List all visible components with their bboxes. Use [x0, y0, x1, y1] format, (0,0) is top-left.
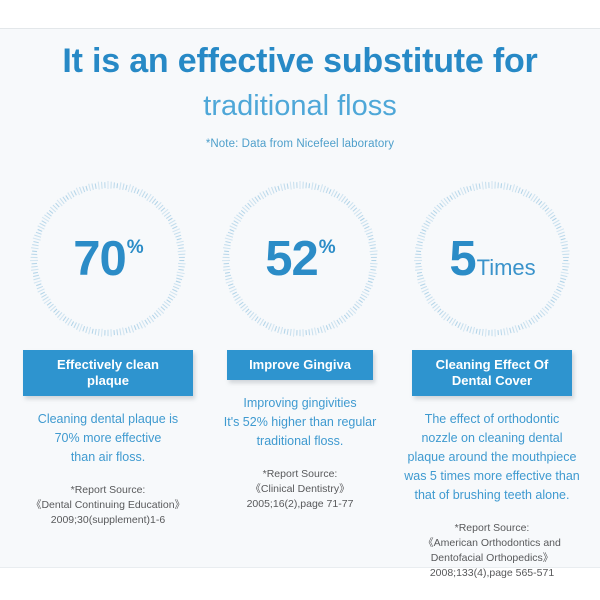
- stat-label-line-1a: Effectively clean: [57, 357, 159, 372]
- stat-number-1: 70: [73, 235, 126, 284]
- citation-line: *Report Source:: [397, 521, 587, 536]
- stat-body-line: than air floss.: [15, 448, 201, 467]
- stat-body-line: Improving gingivities: [207, 394, 393, 413]
- header-block: It is an effective substitute for tradit…: [0, 40, 600, 150]
- stat-suffix-3: Times: [477, 255, 536, 281]
- stat-suffix-2: %: [319, 237, 336, 259]
- stat-label-box-3: Cleaning Effect Of Dental Cover: [412, 350, 572, 396]
- stat-number-2: 52: [265, 235, 318, 284]
- stat-body-line: traditional floss.: [207, 432, 393, 451]
- citation-line: *Report Source:: [13, 483, 203, 498]
- citation-line: *Report Source:: [205, 467, 395, 482]
- stat-label-box-1: Effectively clean plaque: [23, 350, 193, 396]
- source-note: *Note: Data from Nicefeel laboratory: [0, 138, 600, 150]
- stat-body-2: Improving gingivities It's 52% higher th…: [207, 394, 393, 451]
- stat-label-line-2a: Improve Gingiva: [249, 357, 351, 372]
- stat-body-line: It's 52% higher than regular: [207, 413, 393, 432]
- stat-column-3: 5 Times Cleaning Effect Of Dental Cover …: [398, 178, 586, 581]
- citation-line: 《Clinical Dentistry》: [205, 482, 395, 497]
- citation-line: 《American Orthodontics and: [397, 536, 587, 551]
- headline-primary: It is an effective substitute for: [0, 40, 600, 82]
- stat-label-box-2: Improve Gingiva: [227, 350, 373, 380]
- stat-column-1: 70 % Effectively clean plaque Cleaning d…: [14, 178, 202, 581]
- citation-line: 2009;30(supplement)1-6: [13, 513, 203, 528]
- stat-body-1: Cleaning dental plaque is 70% more effec…: [15, 410, 201, 467]
- stat-citation-1: *Report Source: 《Dental Continuing Educa…: [13, 483, 203, 528]
- dial-value-1: 70 %: [73, 235, 142, 284]
- stat-body-line: plaque around the mouthpiece: [399, 448, 585, 467]
- stat-citation-3: *Report Source: 《American Orthodontics a…: [397, 521, 587, 581]
- stat-citation-2: *Report Source: 《Clinical Dentistry》 200…: [205, 467, 395, 512]
- stat-label-line-3b: Dental Cover: [452, 373, 532, 388]
- stat-body-line: nozzle on cleaning dental: [399, 429, 585, 448]
- dial-value-3: 5 Times: [449, 235, 534, 284]
- stat-body-line: was 5 times more effective than: [399, 467, 585, 486]
- dial-gauge-2: 52 %: [219, 178, 381, 340]
- stat-column-2: 52 % Improve Gingiva Improving gingiviti…: [206, 178, 394, 581]
- citation-line: 《Dental Continuing Education》: [13, 498, 203, 513]
- dial-value-2: 52 %: [265, 235, 334, 284]
- citation-line: 2008;133(4),page 565-571: [397, 566, 587, 581]
- stat-body-line: that of brushing teeth alone.: [399, 486, 585, 505]
- dial-gauge-1: 70 %: [27, 178, 189, 340]
- stat-body-line: The effect of orthodontic: [399, 410, 585, 429]
- headline-secondary: traditional floss: [0, 86, 600, 126]
- stat-number-3: 5: [449, 235, 475, 284]
- stat-label-line-3a: Cleaning Effect Of: [436, 357, 549, 372]
- infographic-page: It is an effective substitute for tradit…: [0, 0, 600, 600]
- stat-body-line: Cleaning dental plaque is: [15, 410, 201, 429]
- citation-line: Dentofacial Orthopedics》: [397, 551, 587, 566]
- stat-suffix-1: %: [127, 237, 144, 259]
- stat-body-line: 70% more effective: [15, 429, 201, 448]
- citation-line: 2005;16(2),page 71-77: [205, 497, 395, 512]
- stat-body-3: The effect of orthodontic nozzle on clea…: [399, 410, 585, 505]
- stat-label-line-1b: plaque: [87, 373, 129, 388]
- stats-columns: 70 % Effectively clean plaque Cleaning d…: [0, 178, 600, 581]
- dial-gauge-3: 5 Times: [411, 178, 573, 340]
- top-strip: [0, 0, 600, 28]
